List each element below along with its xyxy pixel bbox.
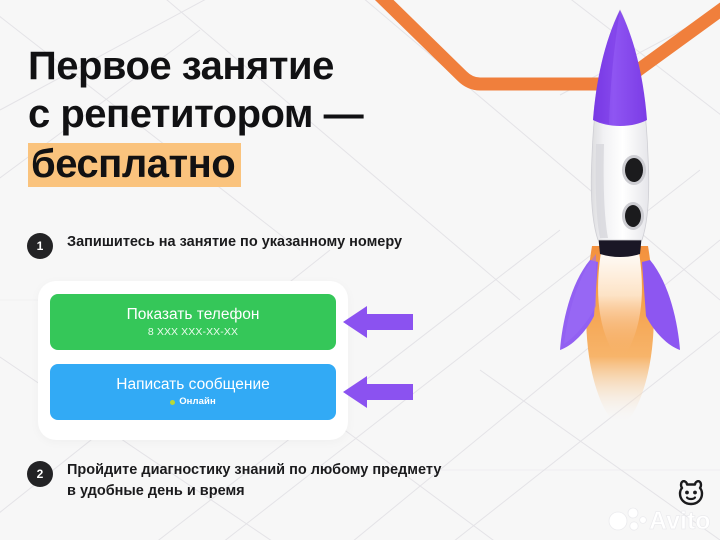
headline-highlight: бесплатно xyxy=(28,143,241,187)
promo-banner: Первое занятие с репетитором — бесплатно… xyxy=(0,0,720,540)
headline-line-3: бесплатно xyxy=(28,140,548,188)
phone-number-masked: 8 XXX XXX-XX-XX xyxy=(148,325,238,339)
show-phone-button[interactable]: Показать телефон 8 XXX XXX-XX-XX xyxy=(50,294,336,350)
send-message-label: Написать сообщение xyxy=(116,375,269,394)
pointer-arrow-message-icon xyxy=(341,376,413,408)
step-badge-2: 2 xyxy=(27,461,53,487)
send-message-button[interactable]: Написать сообщение Онлайн xyxy=(50,364,336,420)
contact-card: Показать телефон 8 XXX XXX-XX-XX Написат… xyxy=(38,281,348,440)
step-text-2: Пройдите диагностику знаний по любому пр… xyxy=(67,460,441,502)
headline-line-1: Первое занятие xyxy=(28,42,548,90)
step-item-2: 2 Пройдите диагностику знаний по любому … xyxy=(27,460,441,502)
avito-watermark: Avito xyxy=(608,500,712,534)
rocket-illustration xyxy=(530,0,720,464)
step-badge-1: 1 xyxy=(27,233,53,259)
online-status-label: Онлайн xyxy=(179,395,216,409)
headline: Первое занятие с репетитором — бесплатно xyxy=(28,42,548,188)
show-phone-label: Показать телефон xyxy=(127,305,260,324)
headline-line-2: с репетитором — xyxy=(28,90,548,138)
online-status: Онлайн xyxy=(170,395,216,409)
online-dot-icon xyxy=(170,400,175,405)
svg-text:Avito: Avito xyxy=(649,507,711,534)
pointer-arrow-phone-icon xyxy=(341,306,413,338)
step-text-1: Запишитесь на занятие по указанному номе… xyxy=(67,232,402,253)
avito-bear-icon xyxy=(676,480,706,506)
step-item-1: 1 Запишитесь на занятие по указанному но… xyxy=(27,232,402,259)
